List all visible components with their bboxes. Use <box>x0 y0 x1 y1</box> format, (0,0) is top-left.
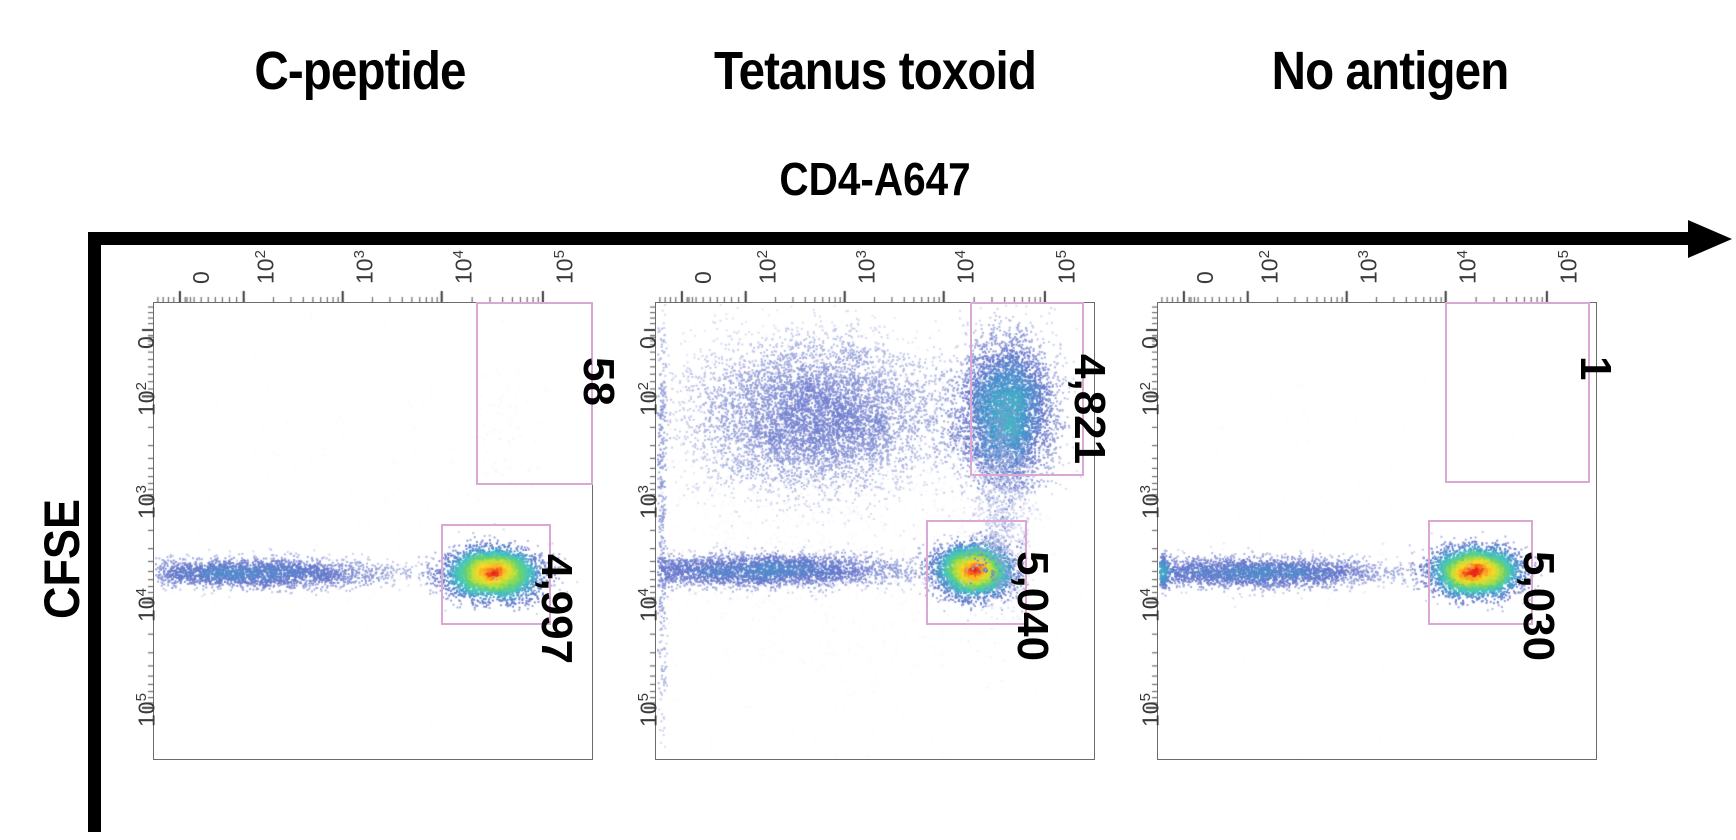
y-tick-marks <box>1143 302 1157 760</box>
x-tick-label: 102 <box>754 250 782 284</box>
gate-count-label: 1 <box>1570 356 1620 380</box>
column-title-tetanus-toxoid: Tetanus toxoid <box>668 40 1082 102</box>
x-tick-marks <box>153 288 593 302</box>
x-tick-label: 103 <box>351 250 379 284</box>
gate-count-label: 58 <box>573 357 623 406</box>
y-tick-label: 0 <box>1137 337 1164 350</box>
y-tick-label: 104 <box>133 588 161 622</box>
column-title-c-peptide: C-peptide <box>175 40 545 102</box>
y-tick-label: 105 <box>133 693 161 727</box>
y-axis-label: CFSE <box>33 469 91 649</box>
gate-count-label: 5,030 <box>1513 551 1563 661</box>
gate-count-label: 5,040 <box>1007 551 1057 661</box>
x-tick-label: 0 <box>690 271 717 284</box>
y-tick-label: 103 <box>635 485 663 519</box>
figure-root: C-peptide Tetanus toxoid No antigen CD4-… <box>0 0 1736 840</box>
x-axis-label: CD4-A647 <box>668 152 1082 206</box>
x-tick-marks <box>1157 288 1597 302</box>
y-tick-marks <box>641 302 655 760</box>
scatter-panel-no-antigen: 0102103104105010210310410515,030 <box>1122 262 1727 780</box>
y-tick-label: 104 <box>1137 588 1165 622</box>
y-tick-label: 0 <box>133 337 160 350</box>
x-tick-marks <box>655 288 1095 302</box>
y-tick-label: 105 <box>635 693 663 727</box>
y-tick-marks <box>139 302 153 760</box>
gate-count-label: 4,821 <box>1064 354 1114 464</box>
gate-count-label: 4,997 <box>531 554 581 664</box>
y-tick-label: 103 <box>1137 485 1165 519</box>
x-axis-arrow-head-icon <box>1688 220 1732 258</box>
y-tick-label: 103 <box>133 485 161 519</box>
x-tick-label: 104 <box>450 250 478 284</box>
x-tick-label: 105 <box>1555 250 1583 284</box>
y-tick-label: 0 <box>635 337 662 350</box>
x-tick-label: 104 <box>952 250 980 284</box>
gate-upper-right-gate <box>1445 302 1590 483</box>
x-tick-label: 104 <box>1454 250 1482 284</box>
column-title-no-antigen: No antigen <box>1205 40 1575 102</box>
x-tick-label: 103 <box>853 250 881 284</box>
y-tick-label: 102 <box>635 382 663 416</box>
y-tick-label: 104 <box>635 588 663 622</box>
x-tick-label: 0 <box>1192 271 1219 284</box>
x-tick-label: 105 <box>551 250 579 284</box>
y-tick-label: 105 <box>1137 693 1165 727</box>
y-tick-label: 102 <box>133 382 161 416</box>
x-tick-label: 102 <box>252 250 280 284</box>
x-axis-arrow-line <box>88 232 1700 245</box>
y-tick-label: 102 <box>1137 382 1165 416</box>
x-tick-label: 102 <box>1256 250 1284 284</box>
x-tick-label: 105 <box>1053 250 1081 284</box>
x-tick-label: 103 <box>1355 250 1383 284</box>
plot-wrapper: 0102103104105010210310410515,030 <box>1122 262 1727 780</box>
x-tick-label: 0 <box>188 271 215 284</box>
